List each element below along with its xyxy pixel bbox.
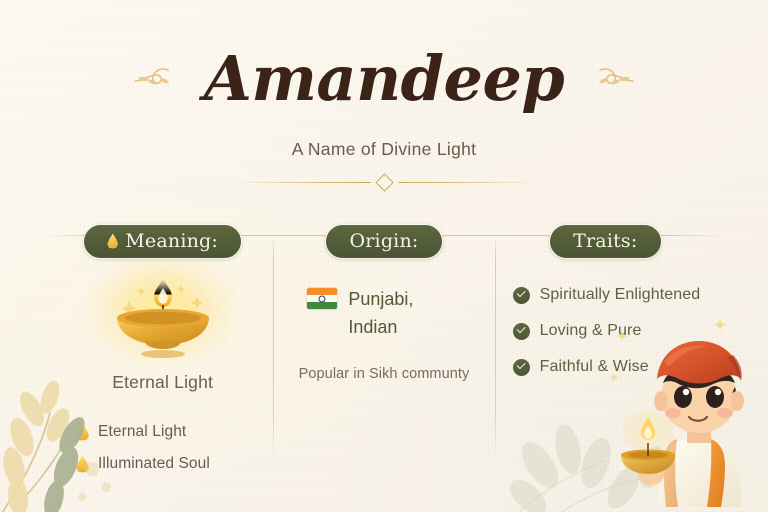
divider-bar-right [398, 182, 538, 184]
pill-wrap-origin: Origin: [273, 224, 494, 259]
page-subtitle: A Name of Divine Light [0, 139, 768, 160]
page-title: Amandeep [204, 48, 565, 110]
list-item-label: Loving & Pure [540, 322, 642, 340]
title-row: Amandeep [0, 48, 768, 110]
header-pill-origin: Origin: [325, 224, 442, 259]
origin-line-2: Indian [348, 317, 397, 337]
india-flag-icon [307, 288, 337, 309]
origin-row: Punjabi, Indian [273, 285, 494, 342]
leaf-flourish-icon [130, 60, 182, 99]
diamond-shape [375, 173, 393, 191]
leaf-flourish-icon [586, 60, 638, 99]
origin-text: Punjabi, Indian [348, 285, 413, 342]
list-item-label: Illuminated Soul [98, 455, 210, 473]
origin-note: Popular in Sikh communty [273, 366, 494, 382]
list-item: Illuminated Soul [76, 455, 273, 473]
meaning-bullets: Eternal Light Illuminated Soul [52, 423, 273, 473]
list-item: Faithful & Wise [513, 358, 716, 376]
droplet-icon [76, 424, 89, 441]
traits-list: Spiritually Enlightened Loving & Pure Fa… [495, 286, 716, 376]
list-item: Loving & Pure [513, 322, 716, 340]
meaning-primary-label: Eternal Light [52, 372, 273, 393]
droplet-icon [76, 456, 89, 473]
name-meaning-card: Amandeep A Name of Divine Light [0, 0, 768, 512]
origin-line-1: Punjabi, [348, 289, 413, 309]
column-header-label: Origin: [349, 230, 418, 252]
column-traits: Traits: Spiritually Enlightened Loving &… [495, 224, 716, 473]
check-circle-icon [513, 323, 530, 340]
diya-lamp-icon [52, 275, 273, 361]
list-item-label: Spiritually Enlightened [540, 286, 701, 304]
check-circle-icon [513, 359, 530, 376]
flame-droplet-icon [107, 234, 118, 249]
list-item: Eternal Light [76, 423, 273, 441]
header-pill-meaning: Meaning: [83, 224, 242, 259]
ashoka-chakra [319, 295, 326, 302]
pill-wrap-traits: Traits: [495, 224, 716, 259]
diamond-divider-icon [0, 176, 768, 189]
columns-grid: Meaning: [52, 224, 716, 468]
column-header-label: Traits: [573, 230, 637, 252]
list-item: Spiritually Enlightened [513, 286, 716, 304]
header-pill-traits: Traits: [549, 224, 661, 259]
list-item-label: Eternal Light [98, 423, 186, 441]
column-origin: Origin: Punjabi, Indian Popular in Sikh … [273, 224, 494, 473]
check-circle-icon [513, 287, 530, 304]
list-item-label: Faithful & Wise [540, 358, 649, 376]
pill-wrap-meaning: Meaning: [52, 224, 273, 259]
column-meaning: Meaning: [52, 224, 273, 473]
divider-bar-left [231, 182, 371, 184]
column-header-label: Meaning: [125, 230, 218, 252]
